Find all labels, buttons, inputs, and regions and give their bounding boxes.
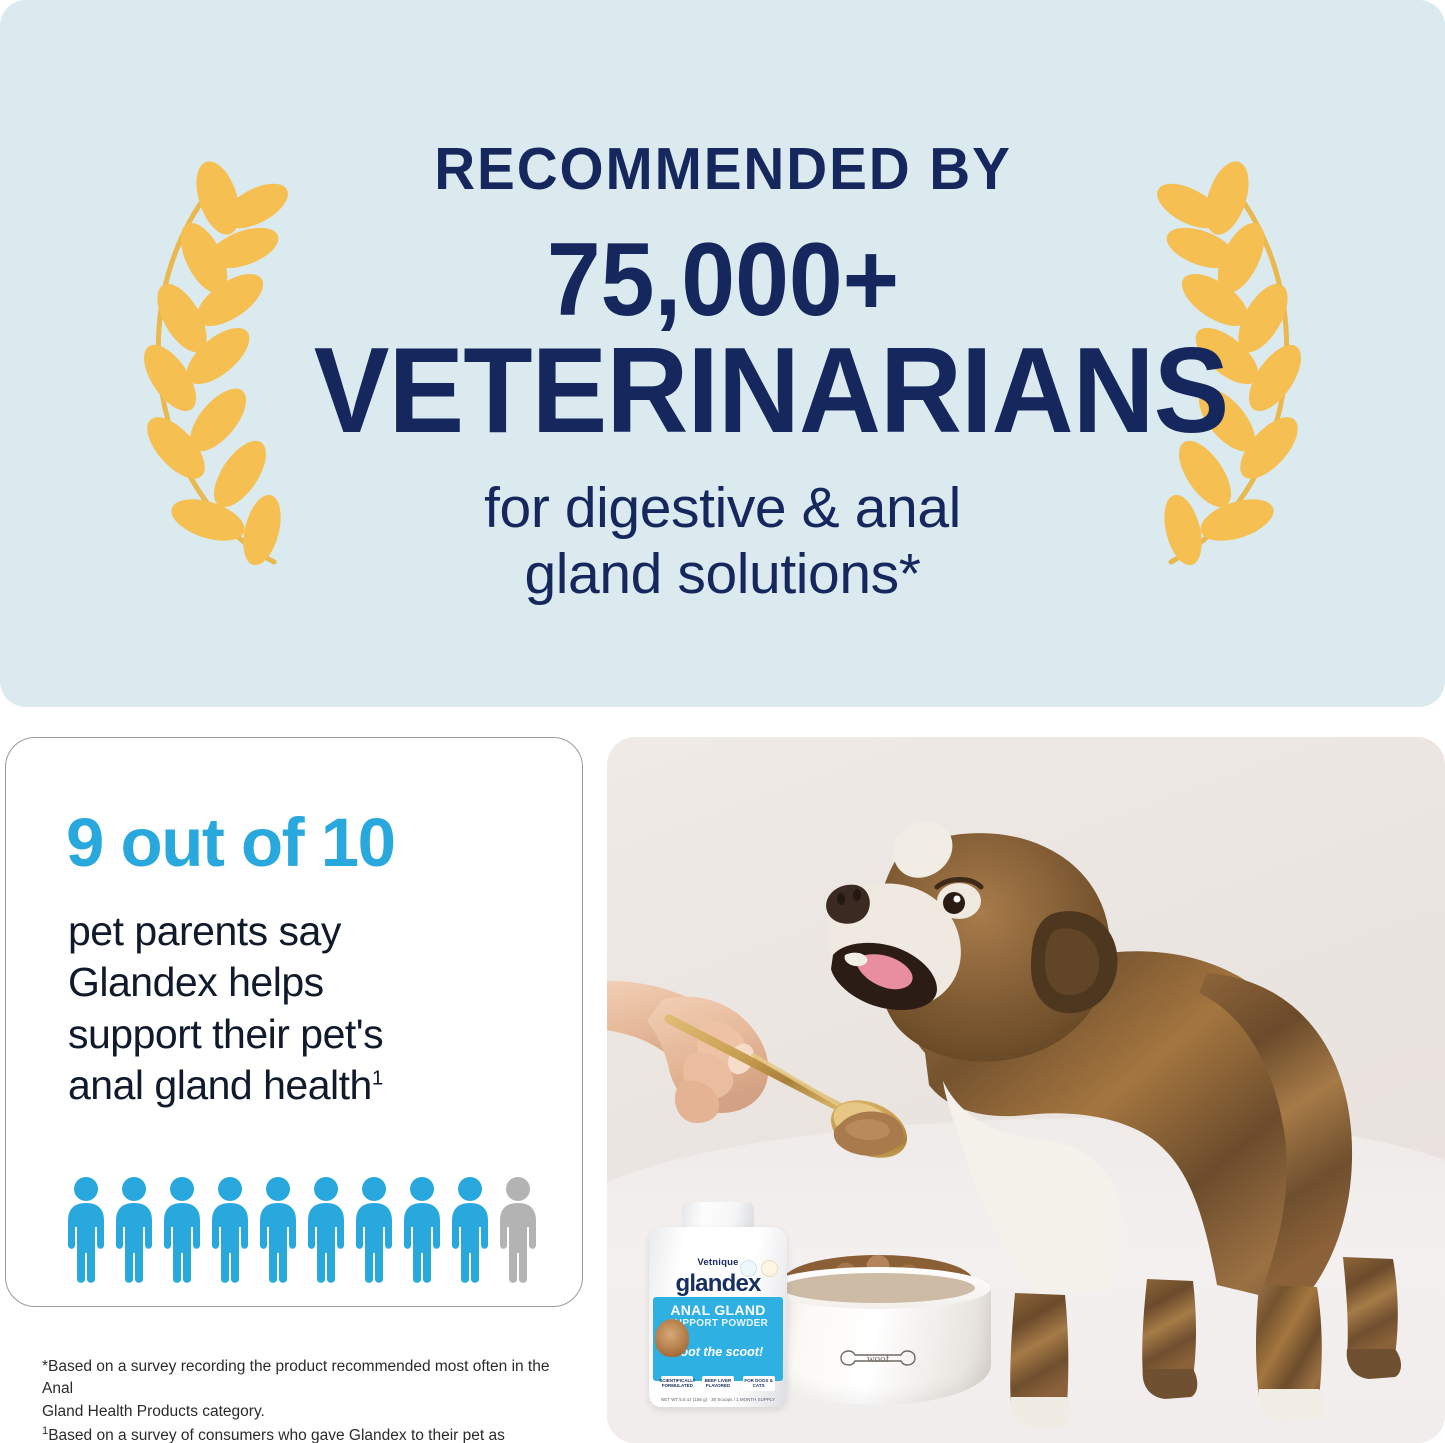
banner-subtitle-line1: for digestive & anal [283,475,1163,541]
person-icon-muted [496,1175,540,1285]
bottle-body: Vetnique glandex ANAL GLAND SUPPORT POWD… [649,1227,787,1407]
person-icon [352,1175,396,1285]
person-icon [448,1175,492,1285]
badge-left: SCIENTIFICALLY FORMULATED [661,1376,693,1391]
banner-subtitle-line2: gland solutions* [283,541,1163,607]
bulldog-with-glandex-photo: Vetnique glandex ANAL GLAND SUPPORT POWD… [607,737,1445,1443]
product-name: glandex [657,1270,779,1298]
person-icon [304,1175,348,1285]
bowl-woof-engraving: woof [839,1345,917,1371]
hand-holding-spoon-icon [607,977,967,1207]
person-icon [400,1175,444,1285]
product-brand: Vetnique [659,1257,777,1268]
footnote-line-1: *Based on a survey recording the product… [42,1356,562,1401]
stat-body-line4: anal gland health [68,1062,372,1108]
person-icon [256,1175,300,1285]
bowl-inner [781,1273,975,1303]
stat-body-line1: pet parents say [68,906,538,957]
people-pictogram [64,1175,544,1285]
banner-subtitle: for digestive & anal gland solutions* [283,475,1163,607]
stat-footnote-marker: 1 [372,1066,383,1089]
product-fineprint: NET WT 5.5 oz (156 g) · 30 Scoops / 1 MO… [657,1397,779,1402]
footnote-line-3-wrap: 1Based on a survey of consumers who gave… [42,1423,562,1443]
person-icon [64,1175,108,1285]
stat-body-line4-wrap: anal gland health1 [68,1060,538,1111]
person-icon [112,1175,156,1285]
stat-body-line3: support their pet's [68,1009,538,1060]
footnotes: *Based on a survey recording the product… [42,1356,562,1443]
stat-card: 9 out of 10 pet parents say Glandex help… [5,737,583,1307]
product-badges: SCIENTIFICALLY FORMULATED BEEF LIVER FLA… [657,1376,779,1391]
laurel-wreath-left-icon [78,138,293,568]
banner-headline-block: RECOMMENDED BY 75,000+ VETERINARIANS for… [283,140,1163,607]
recommended-banner: RECOMMENDED BY 75,000+ VETERINARIANS for… [0,0,1445,707]
badge-right: FOR DOGS & CATS [743,1376,775,1391]
banner-audience: VETERINARIANS [313,329,1131,451]
stat-headline: 9 out of 10 [66,808,395,877]
dog-food-bowl: woof [765,1245,991,1405]
glandex-bottle: Vetnique glandex ANAL GLAND SUPPORT POWD… [649,1202,787,1407]
bowl-woof-text: woof [867,1353,890,1365]
footnote-line-2: Gland Health Products category. [42,1401,562,1423]
product-line1: ANAL GLAND [653,1302,783,1318]
person-icon [208,1175,252,1285]
stat-body-line2: Glandex helps [68,957,538,1008]
page-root: RECOMMENDED BY 75,000+ VETERINARIANS for… [0,0,1445,1443]
person-icon [160,1175,204,1285]
badge-center: BEEF LIVER FLAVORED [702,1376,734,1391]
product-dog-photo-icon [655,1319,689,1357]
banner-eyebrow: RECOMMENDED BY [300,140,1145,199]
stat-body: pet parents say Glandex helps support th… [68,906,538,1111]
footnote-line-3: Based on a survey of consumers who gave … [42,1428,505,1443]
banner-number: 75,000+ [313,225,1131,335]
